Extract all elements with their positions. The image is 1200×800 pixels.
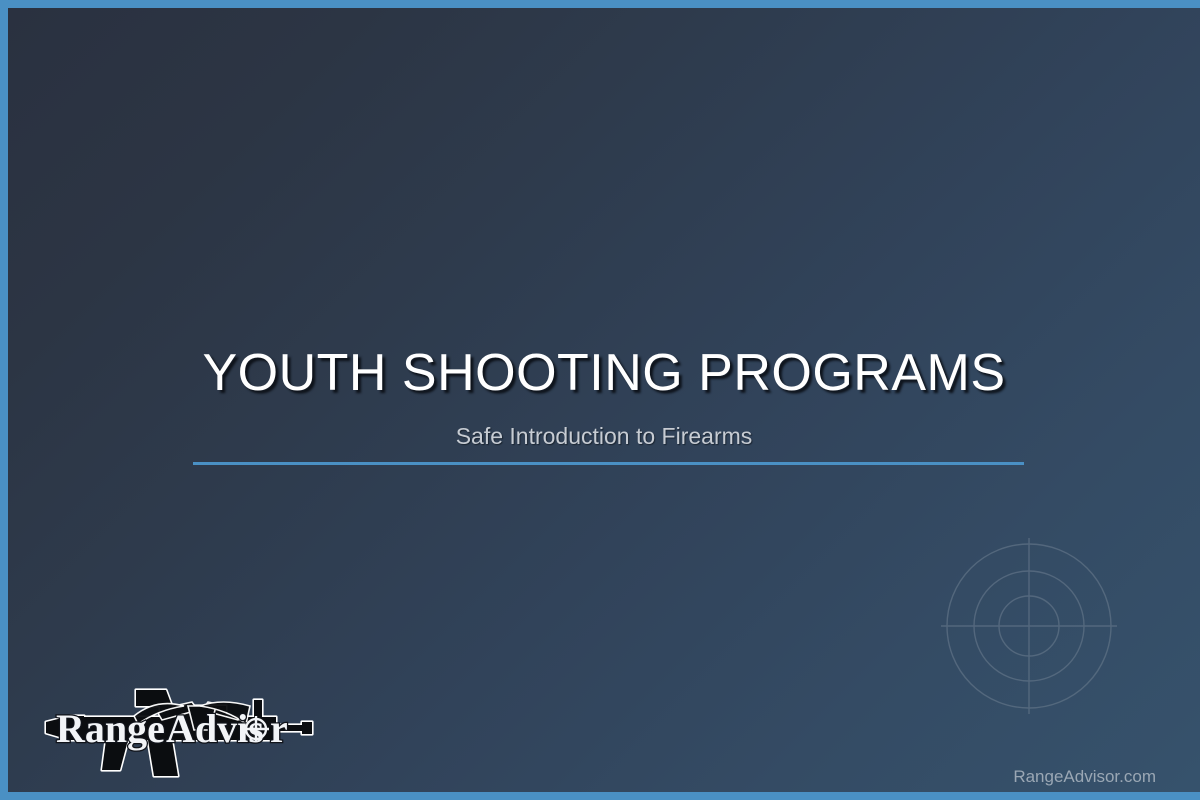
title-block: YOUTH SHOOTING PROGRAMS Safe Introductio…	[8, 8, 1200, 792]
title-divider-rule	[193, 462, 1024, 465]
logo-wordmark-advisor-tail: r	[270, 706, 288, 751]
slide-canvas: YOUTH SHOOTING PROGRAMS Safe Introductio…	[8, 8, 1200, 792]
slide-subtitle: Safe Introduction to Firearms	[8, 421, 1200, 451]
slide-title: YOUTH SHOOTING PROGRAMS	[8, 344, 1200, 402]
brand-logo: Range Advis r	[38, 676, 316, 780]
presentation-slide: YOUTH SHOOTING PROGRAMS Safe Introductio…	[0, 0, 1200, 800]
logo-wordmark-range: Range	[56, 706, 165, 751]
footer-website-url: RangeAdvisor.com	[1013, 766, 1156, 788]
